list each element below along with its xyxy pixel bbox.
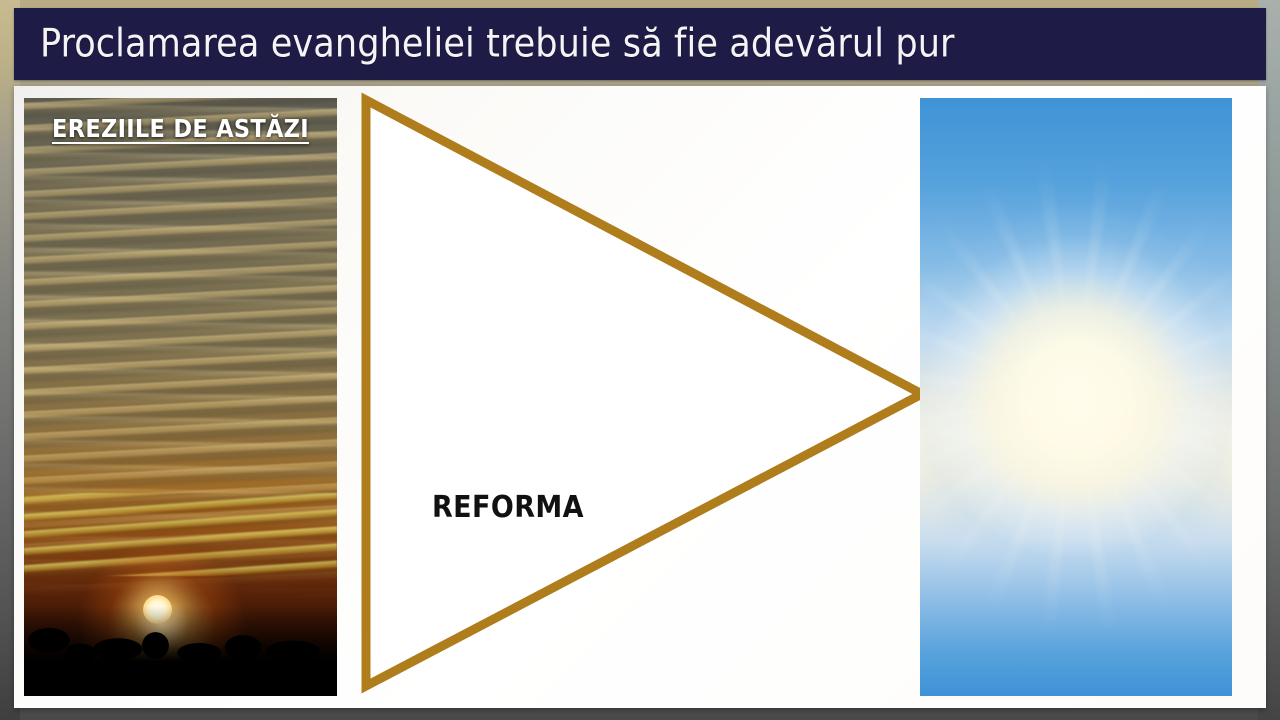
light-rays-layer — [920, 98, 1232, 696]
bright-sunburst-sky-photo — [920, 98, 1232, 696]
arrow-label: REFORMA — [432, 490, 584, 525]
tree-silhouette-layer — [24, 606, 337, 696]
presentation-viewport: Proclamarea evangheliei trebuie să fie a… — [0, 0, 1280, 720]
slide-canvas: EREZIILE DE ASTĂZI REFORMA — [14, 86, 1266, 708]
slide-title-bar: Proclamarea evangheliei trebuie să fie a… — [14, 8, 1266, 80]
sunset-clouds-photo: EREZIILE DE ASTĂZI — [24, 98, 337, 696]
left-photo-caption: EREZIILE DE ASTĂZI — [24, 114, 337, 143]
right-pointing-triangle-icon — [344, 86, 924, 708]
arrow-container: REFORMA — [344, 86, 924, 708]
slide-title: Proclamarea evangheliei trebuie să fie a… — [40, 22, 955, 67]
slide: Proclamarea evangheliei trebuie să fie a… — [14, 8, 1266, 708]
